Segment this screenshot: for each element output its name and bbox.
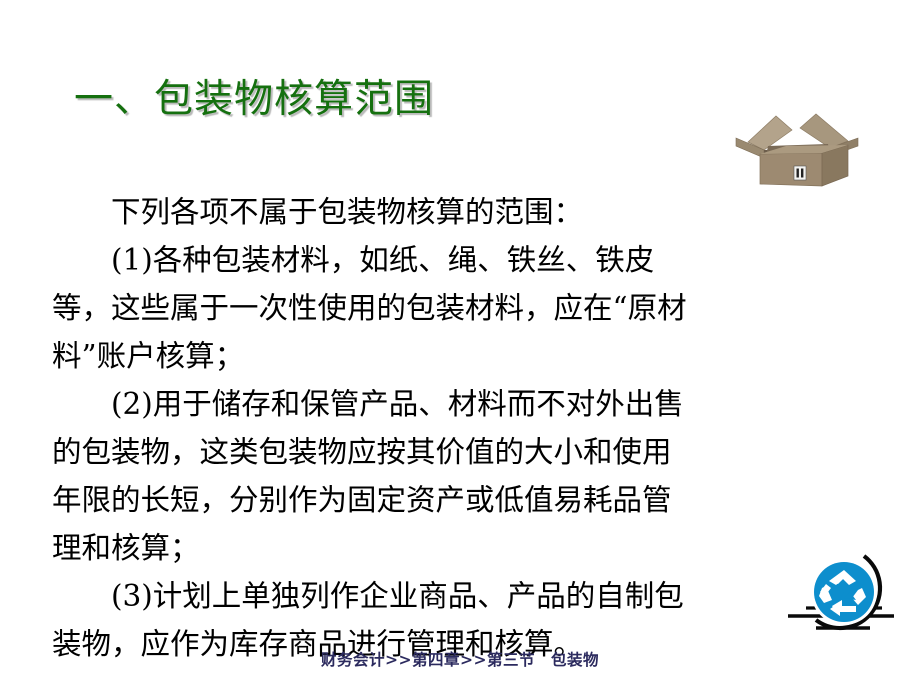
body-paragraph-1: (1)各种包装材料，如纸、绳、铁丝、铁皮等，这些属于一次性使用的包装材料，应在“… [52, 236, 692, 380]
footer-breadcrumb: 财务会计>>第四章>>第三节 包装物 [0, 648, 920, 670]
cardboard-box-icon [730, 96, 865, 194]
cardboard-box-image [730, 96, 865, 194]
body-paragraph-2: (2)用于储存和保管产品、材料而不对外出售的包装物，这类包装物应按其价值的大小和… [52, 380, 692, 572]
body-text-block: 下列各项不属于包装物核算的范围： (1)各种包装材料，如纸、绳、铁丝、铁皮等，这… [52, 188, 692, 668]
recycle-logo [786, 548, 906, 648]
slide-canvas: 一、包装物核算范围 下列各项不属于包装物核算 [0, 0, 920, 690]
recycle-icon [786, 548, 906, 648]
body-paragraph-0: 下列各项不属于包装物核算的范围： [52, 188, 692, 236]
page-title: 一、包装物核算范围 [74, 78, 434, 123]
